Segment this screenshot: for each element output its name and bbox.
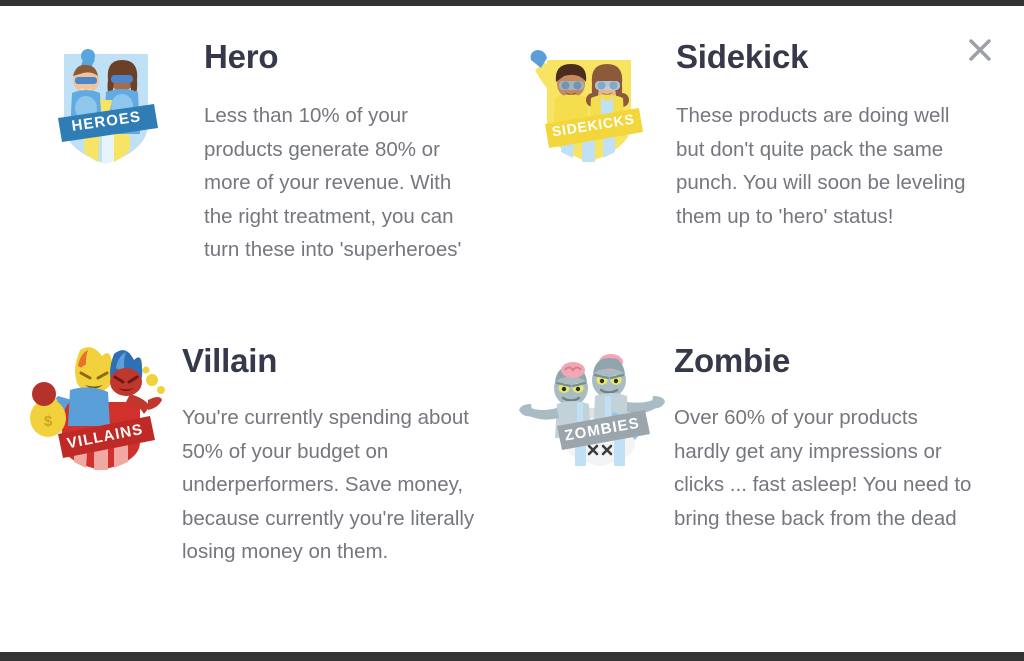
card-zombie[interactable]: ZOMBIES Zombie Over 60% of your products… [512,324,1024,652]
card-hero-text: Less than 10% of your products generate … [204,99,482,267]
card-zombie-title: Zombie [674,344,994,377]
card-hero-body: Hero Less than 10% of your products gene… [192,38,482,267]
card-hero[interactable]: HEROES Hero Less than 10% of your produc… [0,6,512,324]
card-zombie-body: Zombie Over 60% of your products hardly … [663,342,994,535]
sidekicks-badge-icon: SIDEKICKS [519,38,659,170]
heroes-badge-icon: HEROES [46,38,186,170]
card-zombie-text: Over 60% of your products hardly get any… [674,401,974,535]
card-sidekick[interactable]: SIDEKICKS Sidekick These products are do… [512,6,1024,324]
card-sidekick-text: These products are doing well but don't … [676,99,976,233]
zombies-badge-icon: ZOMBIES [517,342,657,474]
card-villain-body: Villain You're currently spending about … [164,342,482,569]
villains-badge-icon: $ V [18,342,158,474]
card-sidekick-title: Sidekick [676,40,994,73]
card-villain-text: You're currently spending about 50% of y… [182,401,482,569]
card-villain-title: Villain [182,344,482,377]
close-icon[interactable] [963,33,997,67]
card-hero-title: Hero [204,40,482,73]
modal-dialog: HEROES Hero Less than 10% of your produc… [0,0,1024,661]
card-grid: HEROES Hero Less than 10% of your produc… [0,6,1024,652]
card-villain[interactable]: $ V [0,324,512,652]
card-sidekick-body: Sidekick These products are doing well b… [665,38,994,233]
svg-text:$: $ [44,413,53,430]
window-bottom-bar [0,652,1024,661]
